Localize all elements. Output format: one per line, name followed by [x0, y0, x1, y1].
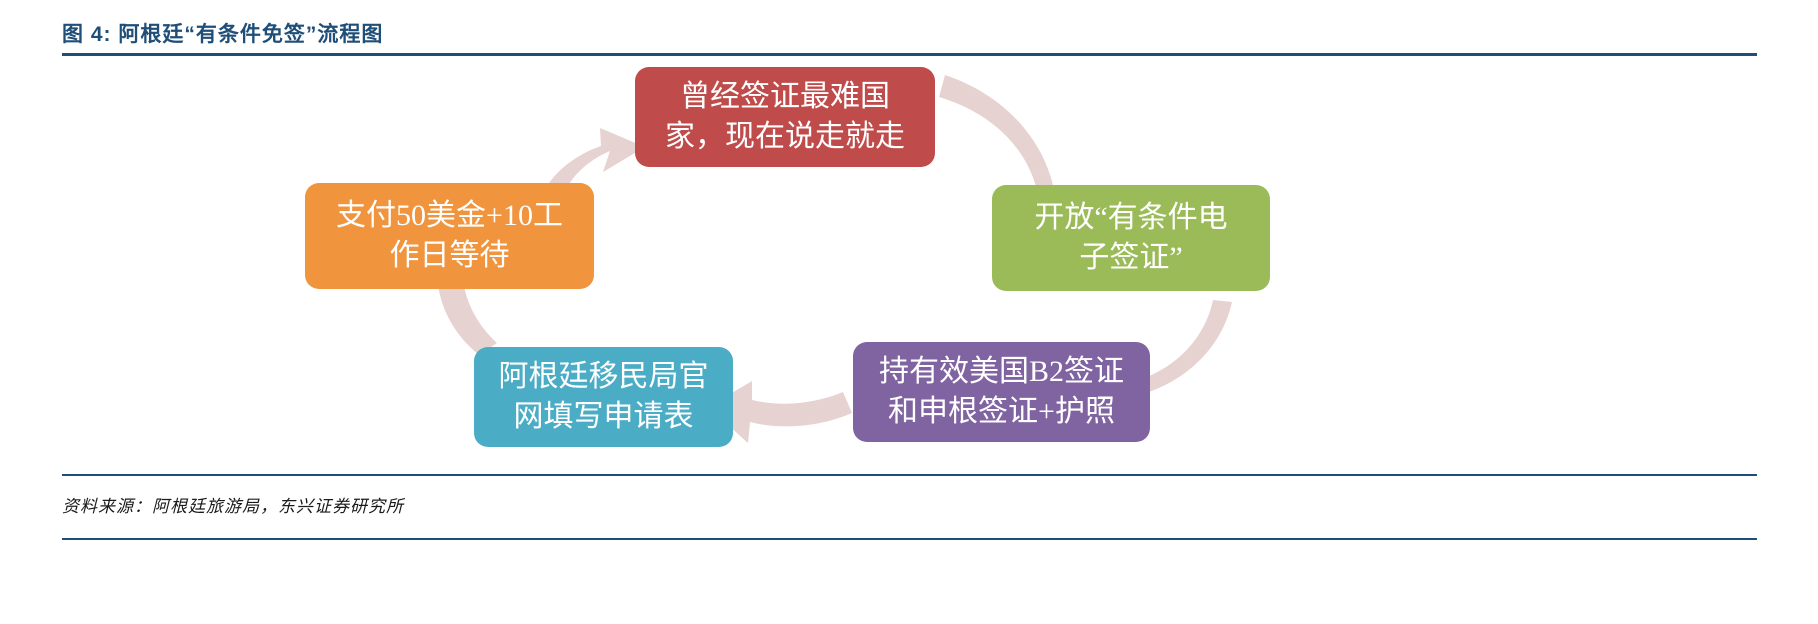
flow-node-orange[interactable]: 支付50美金+10工 作日等待 — [305, 183, 594, 289]
flow-node-purple[interactable]: 持有效美国B2签证 和申根签证+护照 — [853, 342, 1150, 442]
flow-node-blue[interactable]: 阿根廷移民局官 网填写申请表 — [474, 347, 733, 447]
flow-node-green[interactable]: 开放“有条件电 子签证” — [992, 185, 1270, 291]
figure-title: 图 4: 阿根廷“有条件免签”流程图 — [62, 18, 383, 48]
source-text: 资料来源：阿根廷旅游局，东兴证券研究所 — [62, 492, 404, 517]
flow-diagram: 曾经签证最难国 家，现在说走就走 开放“有条件电 子签证” 持有效美国B2签证 … — [0, 55, 1818, 470]
flow-node-red[interactable]: 曾经签证最难国 家，现在说走就走 — [635, 67, 935, 167]
source-divider-top — [62, 474, 1757, 476]
source-divider-bottom — [62, 538, 1757, 540]
